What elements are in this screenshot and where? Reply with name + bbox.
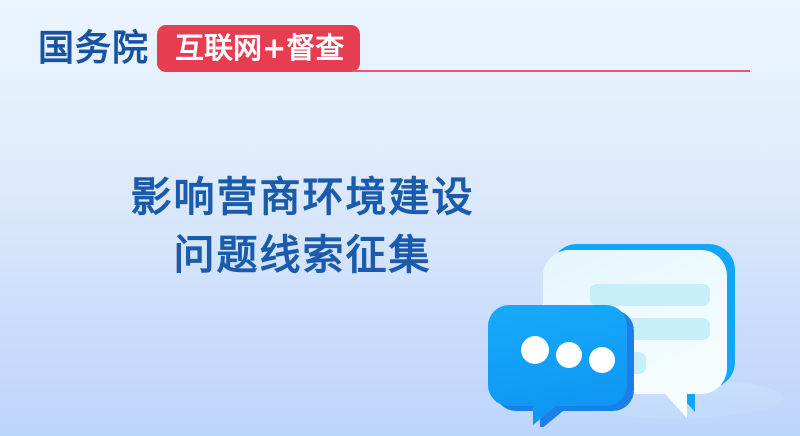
campaign-badge-label: 互联网+督查 — [175, 31, 344, 65]
back-bubble-text-bar — [590, 284, 710, 306]
campaign-badge: 互联网+督查 — [157, 25, 360, 72]
typing-dot — [589, 347, 615, 373]
banner-header: 国务院 互联网+督查 — [0, 24, 800, 76]
chat-bubbles-illustration — [485, 222, 785, 427]
page-title-line-1: 影响营商环境建设 — [0, 168, 605, 226]
front-chat-bubble — [488, 305, 634, 427]
banner: 国务院 互联网+督查 影响营商环境建设 问题线索征集 — [0, 0, 800, 436]
typing-dot — [521, 336, 549, 364]
header-divider-rule — [352, 70, 750, 72]
organization-name: 国务院 — [38, 27, 149, 71]
typing-dot — [556, 342, 582, 368]
